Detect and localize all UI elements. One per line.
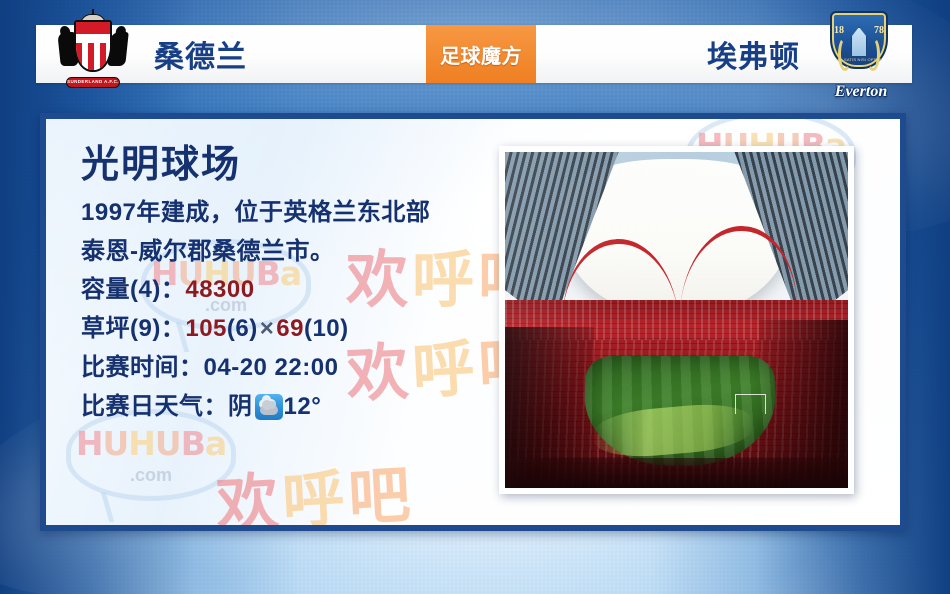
crest-shield <box>74 20 112 72</box>
everton-wreath-right <box>866 37 880 71</box>
capacity-label: 容量(4)： <box>81 276 185 303</box>
site-logo-text: 足球魔方 <box>440 40 522 69</box>
pitch-row: 草坪(9)：105(6)×69(10) <box>81 310 501 349</box>
crest-mid-band <box>76 34 110 43</box>
stadium-info-panel: HUHUBa .com HUHUBa .com HUHUBa .com 欢呼吧 … <box>40 113 906 531</box>
weather-condition: 阴 <box>228 393 253 420</box>
home-team-block[interactable]: SUNDERLAND A.F.C. 桑德兰 <box>36 18 426 90</box>
match-header-bar: SUNDERLAND A.F.C. 桑德兰 足球魔方 埃弗顿 18 78 NIL… <box>36 25 912 83</box>
capacity-value: 48300 <box>185 276 254 303</box>
photo-goal <box>735 394 766 414</box>
photo-front-rail <box>505 458 848 488</box>
site-logo[interactable]: 足球魔方 <box>426 25 536 83</box>
home-team-name: 桑德兰 <box>154 32 247 76</box>
match-time-value: 04-20 22:00 <box>204 354 339 381</box>
crest-top-band <box>76 22 110 34</box>
page-title: 光明球场 <box>81 144 501 188</box>
pitch-times-symbol: × <box>258 315 277 342</box>
everton-year-left: 18 <box>834 25 844 36</box>
match-time-row: 比赛时间：04-20 22:00 <box>81 349 501 388</box>
watermark-domain: .com <box>130 465 172 486</box>
stadium-photo <box>505 152 848 488</box>
stadium-description-line-1: 1997年建成，位于英格兰东北部 <box>81 194 501 233</box>
crest-banner: SUNDERLAND A.F.C. <box>66 77 120 88</box>
pitch-length: 105 <box>185 315 227 342</box>
weather-row: 比赛日天气：阴12° <box>81 388 501 427</box>
pitch-width: 69 <box>276 315 304 342</box>
watermark-brand-latin: HUHUBa <box>76 424 226 463</box>
everton-year-right: 78 <box>874 25 884 36</box>
everton-shield: 18 78 NIL SATIS NISI OPTIMUM <box>830 11 888 69</box>
weather-label: 比赛日天气： <box>81 393 228 420</box>
everton-wreath-left <box>838 37 852 71</box>
pitch-width-rank: (10) <box>304 315 349 342</box>
match-time-label: 比赛时间： <box>81 354 204 381</box>
stadium-info-text: 光明球场 1997年建成，位于英格兰东北部 泰恩-威尔郡桑德兰市。 容量(4)：… <box>81 144 501 427</box>
watermark-brand-cn: 欢呼吧 <box>214 444 416 531</box>
pitch-length-rank: (6) <box>227 315 258 342</box>
away-team-name: 埃弗顿 <box>707 32 800 76</box>
stadium-photo-frame[interactable] <box>499 146 854 494</box>
everton-crest-icon: 18 78 NIL SATIS NISI OPTIMUM Everton <box>818 9 904 101</box>
cloudy-icon <box>255 394 283 420</box>
away-team-block[interactable]: 埃弗顿 18 78 NIL SATIS NISI OPTIMUM Everton <box>536 7 912 101</box>
everton-motto: NIL SATIS NISI OPTIMUM <box>836 57 882 62</box>
sunderland-crest-icon: SUNDERLAND A.F.C. <box>58 14 128 90</box>
capacity-row: 容量(4)：48300 <box>81 271 501 310</box>
weather-temperature: 12° <box>284 393 322 420</box>
everton-tower <box>851 27 867 57</box>
stadium-description-line-2: 泰恩-威尔郡桑德兰市。 <box>81 233 501 272</box>
everton-wordmark: Everton <box>818 83 904 101</box>
pitch-label: 草坪(9)： <box>81 315 185 342</box>
